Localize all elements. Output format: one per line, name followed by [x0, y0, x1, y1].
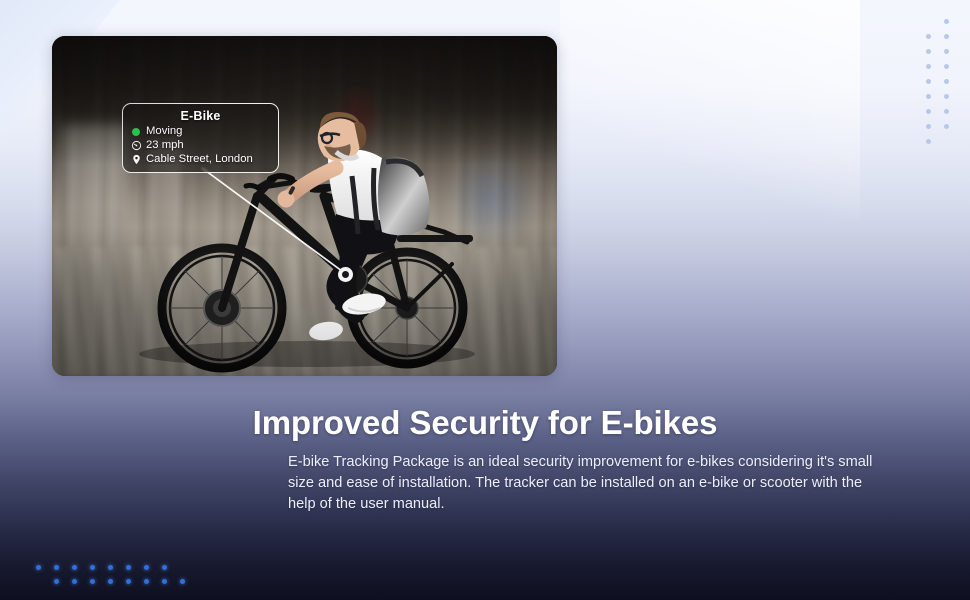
promo-banner: E-Bike Moving 23 mph Cable Street, — [0, 0, 970, 600]
decorative-light-wedge-right — [560, 0, 860, 220]
hero-photo: E-Bike Moving 23 mph Cable Street, — [52, 36, 557, 376]
decorative-dot-grid-right — [926, 14, 949, 149]
body-paragraph: E-bike Tracking Package is an ideal secu… — [288, 452, 878, 515]
decorative-dot-grid-bottom — [36, 560, 185, 588]
photo-vignette — [52, 36, 557, 376]
page-title: Improved Security for E-bikes — [0, 404, 970, 442]
